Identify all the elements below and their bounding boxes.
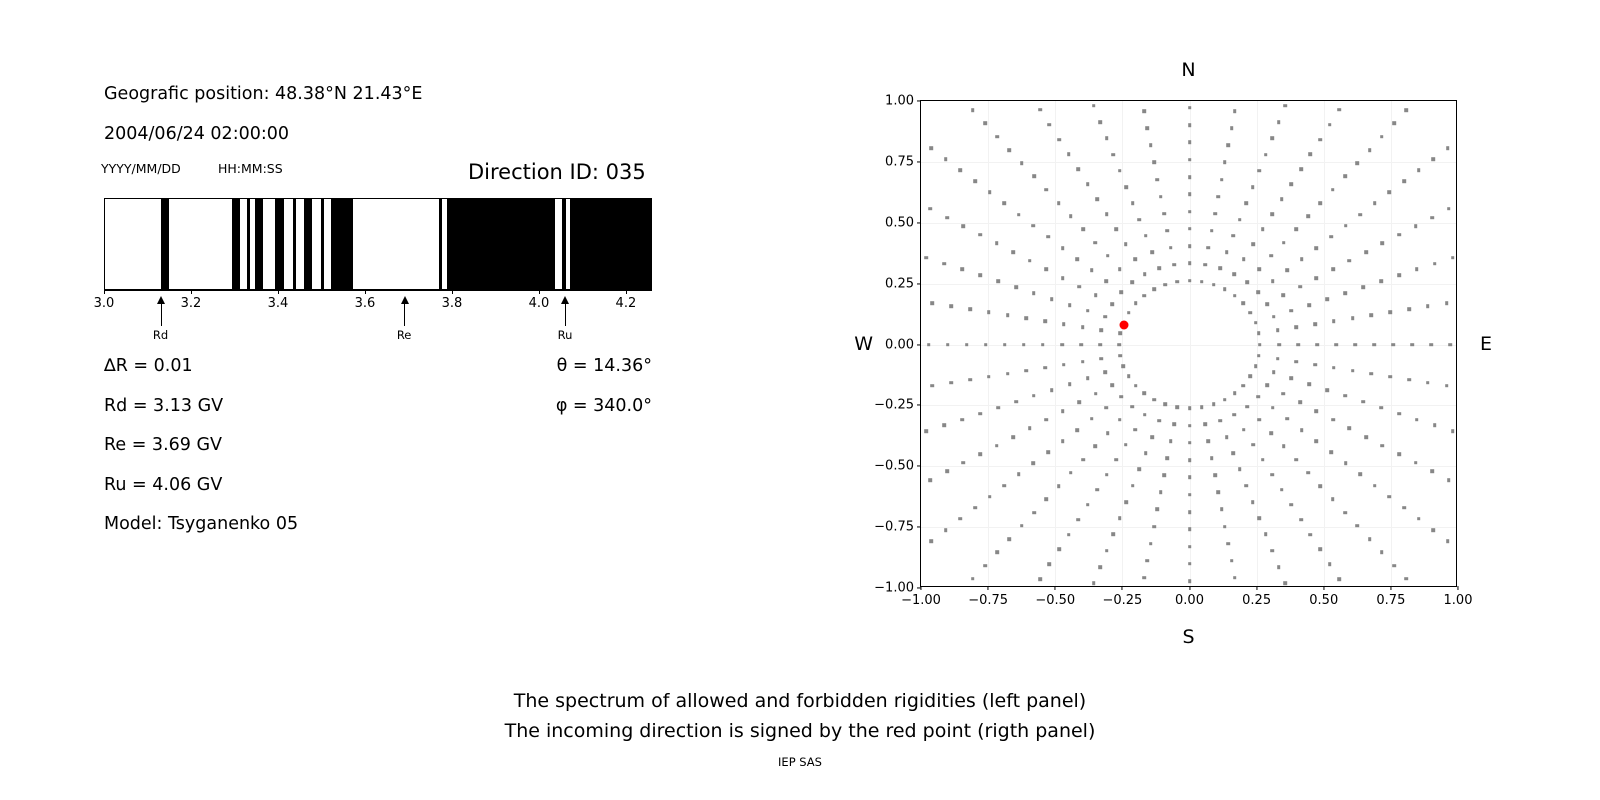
parameter-row-secondary: φ = 340.0° — [556, 396, 652, 416]
direction-point — [1343, 175, 1347, 179]
direction-point — [1238, 218, 1242, 222]
geographic-position-label: Geografic position: 48.38°N 21.43°E — [104, 84, 422, 104]
direction-point — [1105, 406, 1109, 410]
direction-point — [1331, 268, 1335, 272]
direction-point — [1146, 559, 1150, 563]
direction-point — [1355, 524, 1359, 528]
direction-point — [1258, 343, 1262, 347]
direction-point — [1272, 370, 1276, 374]
direction-point — [1110, 383, 1114, 387]
direction-point — [1152, 161, 1156, 165]
direction-point — [1151, 250, 1155, 254]
direction-point — [1358, 213, 1362, 217]
direction-point — [1092, 581, 1096, 585]
direction-point — [1451, 430, 1455, 434]
direction-point — [1381, 444, 1385, 448]
forbidden-band — [255, 199, 263, 289]
direction-point — [1159, 491, 1163, 495]
direction-point — [929, 146, 933, 150]
x-tick-mark — [278, 290, 279, 294]
parameter-row: Ru = 4.06 GV — [104, 475, 222, 495]
direction-point — [1318, 548, 1322, 552]
direction-point — [1076, 168, 1080, 172]
direction-point — [1282, 392, 1286, 396]
direction-point — [1391, 343, 1395, 347]
direction-point — [959, 168, 963, 172]
direction-point — [1094, 392, 1098, 396]
direction-point — [1233, 294, 1237, 298]
direction-point — [1068, 303, 1072, 307]
direction-point — [1397, 233, 1401, 237]
direction-point — [1280, 488, 1284, 492]
direction-point — [1296, 343, 1300, 347]
direction-point — [1142, 294, 1146, 298]
direction-point — [1290, 376, 1294, 380]
direction-point — [1156, 178, 1160, 182]
direction-point — [988, 191, 992, 195]
direction-point — [1100, 357, 1104, 361]
direction-point — [1131, 484, 1135, 488]
direction-point — [1138, 218, 1142, 222]
direction-point — [1294, 228, 1298, 232]
direction-point — [1188, 279, 1192, 283]
direction-point — [1257, 354, 1261, 358]
direction-point — [1373, 484, 1377, 488]
y-tick-mark — [917, 161, 921, 162]
direction-point — [1251, 443, 1255, 447]
y-tick-label: 0.50 — [885, 215, 914, 230]
direction-point — [1122, 365, 1126, 369]
forbidden-band — [321, 199, 324, 289]
direction-point — [1093, 241, 1097, 245]
direction-point — [1188, 175, 1192, 179]
direction-point — [1028, 426, 1032, 430]
caption-line-1: The spectrum of allowed and forbidden ri… — [0, 686, 1600, 716]
direction-point — [1242, 302, 1246, 306]
x-tick-mark — [1256, 586, 1257, 590]
direction-point — [1022, 343, 1026, 347]
y-tick-label: 1.00 — [885, 94, 914, 109]
direction-point — [944, 528, 948, 532]
direction-point — [1373, 202, 1377, 206]
arrow-shaft — [161, 302, 162, 326]
direction-point — [1315, 246, 1319, 250]
direction-point — [1242, 384, 1246, 388]
direction-point — [1077, 401, 1081, 405]
direction-point — [1169, 440, 1173, 444]
direction-point — [929, 207, 933, 211]
direction-point — [1290, 503, 1294, 507]
direction-point — [1076, 518, 1080, 522]
direction-point — [944, 157, 948, 161]
direction-point — [968, 308, 972, 312]
x-tick-mark — [1390, 586, 1391, 590]
compass-west-label: W — [854, 333, 873, 355]
x-tick-label: 0.50 — [1309, 593, 1338, 608]
direction-point — [1245, 405, 1249, 409]
direction-point — [1210, 229, 1214, 233]
y-tick-mark — [917, 344, 921, 345]
direction-point — [978, 412, 982, 416]
caption-line-2: The incoming direction is signed by the … — [0, 716, 1600, 746]
direction-point — [1257, 516, 1261, 520]
direction-point — [1086, 376, 1090, 380]
x-tick-label: 4.2 — [616, 296, 637, 311]
direction-point — [1447, 207, 1451, 211]
x-tick-label: −1.00 — [901, 593, 941, 608]
direction-point — [1226, 542, 1230, 546]
direction-point — [1090, 268, 1094, 272]
direction-point — [1225, 435, 1229, 439]
direction-point — [1319, 484, 1323, 488]
direction-point — [1138, 468, 1142, 472]
direction-point — [1095, 198, 1099, 202]
direction-point — [1144, 234, 1148, 238]
direction-point — [1188, 210, 1192, 214]
direction-point — [1218, 419, 1222, 423]
direction-point — [1002, 484, 1006, 488]
direction-point — [925, 256, 929, 260]
direction-point — [1313, 363, 1317, 367]
direction-point — [1368, 148, 1372, 152]
direction-point — [1061, 409, 1065, 413]
direction-point — [1044, 268, 1048, 272]
direction-point — [973, 506, 977, 510]
direction-point — [1294, 458, 1298, 462]
y-tick-label: 0.00 — [885, 337, 914, 352]
direction-point — [1125, 185, 1129, 189]
direction-point — [1364, 435, 1368, 439]
direction-point — [1300, 428, 1304, 432]
direction-point — [1257, 418, 1261, 422]
direction-point — [1277, 120, 1281, 124]
direction-point — [1430, 216, 1434, 220]
direction-point — [1188, 123, 1192, 127]
direction-point — [1315, 276, 1319, 280]
direction-point — [1257, 267, 1261, 271]
direction-point — [1265, 302, 1269, 306]
direction-point — [1309, 153, 1313, 157]
direction-point — [1119, 395, 1123, 399]
direction-point — [1272, 315, 1276, 319]
direction-point — [983, 122, 987, 126]
direction-point — [1353, 343, 1357, 347]
direction-point — [1061, 246, 1065, 250]
direction-point — [1318, 138, 1322, 142]
direction-point — [931, 302, 935, 306]
direction-point — [1166, 229, 1170, 233]
horizontal-gridline — [921, 223, 1456, 224]
direction-point — [1105, 279, 1109, 283]
direction-point — [1152, 525, 1156, 529]
direction-point — [1271, 213, 1275, 217]
direction-point — [1213, 474, 1217, 478]
direction-point — [1111, 153, 1115, 157]
direction-point — [1315, 343, 1319, 347]
direction-point — [1069, 471, 1073, 475]
direction-point — [1276, 329, 1280, 333]
x-tick-mark — [365, 290, 366, 294]
direction-point — [1118, 332, 1122, 336]
direction-point — [1133, 258, 1137, 262]
direction-point — [1372, 343, 1376, 347]
vertical-gridline — [988, 101, 989, 586]
datetime-label: 2004/06/24 02:00:00 — [104, 124, 289, 144]
direction-point — [1134, 302, 1138, 306]
direction-point — [1213, 212, 1217, 216]
spectrum-x-axis: 3.03.23.43.63.84.04.2 — [104, 290, 652, 302]
direction-point — [1134, 384, 1138, 388]
direction-point — [1251, 243, 1255, 247]
direction-point — [1290, 183, 1294, 187]
direction-point — [1380, 135, 1384, 139]
x-tick-mark — [452, 290, 453, 294]
direction-point — [1325, 388, 1329, 392]
direction-point — [1105, 473, 1109, 477]
direction-point — [1397, 412, 1401, 416]
direction-point — [973, 179, 977, 183]
y-tick-mark — [917, 283, 921, 284]
direction-point — [987, 375, 991, 379]
direction-point — [1404, 108, 1408, 112]
direction-point — [1402, 179, 1406, 183]
parameter-row-secondary: θ = 14.36° — [557, 356, 652, 376]
direction-point — [1142, 110, 1146, 114]
x-tick-label: −0.50 — [1035, 593, 1075, 608]
direction-point — [1159, 195, 1163, 199]
direction-point — [1270, 431, 1274, 435]
direction-point — [1276, 357, 1280, 361]
y-tick-label: −0.25 — [874, 398, 914, 413]
direction-point — [942, 424, 946, 428]
direction-point — [1446, 146, 1450, 150]
direction-point — [1032, 394, 1036, 398]
direction-point — [1433, 424, 1437, 428]
direction-point — [1233, 392, 1237, 396]
direction-point — [1142, 392, 1146, 396]
direction-point — [1344, 224, 1348, 228]
direction-point — [1218, 267, 1222, 271]
direction-point — [1251, 500, 1255, 504]
direction-point — [1431, 528, 1435, 532]
direction-point — [949, 381, 953, 385]
direction-point — [962, 224, 966, 228]
direction-point — [1308, 303, 1312, 307]
direction-point — [946, 343, 950, 347]
direction-point — [978, 233, 982, 237]
direction-point — [1032, 175, 1036, 179]
direction-point — [1368, 537, 1372, 541]
direction-point — [1212, 283, 1216, 287]
direction-point — [1433, 262, 1437, 266]
direction-point — [1299, 168, 1303, 172]
rigidity-spectrum-bar — [104, 198, 652, 290]
direction-point — [945, 470, 949, 474]
direction-point — [1081, 360, 1085, 364]
direction-point — [1149, 144, 1153, 148]
direction-point — [1370, 314, 1374, 318]
direction-point — [1417, 168, 1421, 172]
x-tick-mark — [1457, 586, 1458, 590]
direction-point — [1283, 104, 1287, 108]
direction-point — [1118, 169, 1122, 173]
direction-point — [1251, 185, 1255, 189]
direction-point — [1127, 311, 1131, 315]
direction-point — [995, 550, 999, 554]
direction-point — [1223, 161, 1227, 165]
direction-point — [1415, 268, 1419, 272]
direction-point — [1404, 577, 1408, 581]
direction-point — [1285, 417, 1289, 421]
direction-point — [1157, 267, 1161, 271]
arrow-up-icon — [401, 296, 409, 304]
direction-point — [1151, 435, 1155, 439]
forbidden-band — [304, 199, 312, 289]
direction-point — [1344, 462, 1348, 466]
direction-point — [1254, 321, 1258, 325]
direction-point — [1157, 419, 1161, 423]
direction-point — [1104, 370, 1108, 374]
direction-point — [1092, 104, 1096, 108]
direction-point — [971, 108, 975, 112]
direction-point — [1062, 323, 1066, 327]
direction-point — [1057, 484, 1061, 488]
direction-point — [1188, 545, 1192, 549]
direction-point — [1142, 576, 1146, 580]
direction-point — [1300, 257, 1304, 261]
direction-point — [1203, 263, 1207, 267]
direction-point — [1188, 458, 1192, 462]
direction-point — [1451, 256, 1455, 260]
direction-point — [1334, 343, 1338, 347]
direction-point — [1006, 372, 1010, 376]
direction-point — [1014, 285, 1018, 289]
direction-point — [1048, 123, 1052, 127]
x-tick-label: 3.6 — [355, 296, 376, 311]
compass-east-label: E — [1480, 333, 1492, 355]
arrow-shaft — [565, 302, 566, 326]
direction-point — [1388, 191, 1392, 195]
direction-point — [1093, 445, 1097, 449]
direction-point — [1270, 549, 1274, 553]
direction-point — [1090, 417, 1094, 421]
direction-point — [1044, 418, 1048, 422]
x-tick-mark — [104, 290, 105, 294]
direction-point — [1295, 326, 1299, 330]
direction-point — [1172, 263, 1176, 267]
direction-point — [1392, 564, 1396, 568]
direction-point — [987, 311, 991, 315]
direction-point — [1046, 235, 1050, 239]
direction-point — [1100, 329, 1104, 333]
direction-point — [1105, 213, 1109, 217]
direction-point — [1355, 161, 1359, 165]
direction-point — [1153, 398, 1157, 402]
direction-point — [1188, 476, 1192, 480]
x-tick-label: 3.2 — [181, 296, 202, 311]
direction-point — [1050, 388, 1054, 392]
direction-point — [1124, 243, 1128, 247]
direction-point — [1220, 178, 1224, 182]
y-tick-mark — [917, 466, 921, 467]
direction-point — [1407, 308, 1411, 312]
direction-point — [1306, 214, 1310, 218]
direction-point — [927, 343, 931, 347]
vertical-gridline — [1055, 101, 1056, 586]
direction-point — [959, 517, 963, 521]
direction-point — [968, 378, 972, 382]
direction-point — [1188, 244, 1192, 248]
compass-south-label: S — [1182, 626, 1194, 648]
direction-point — [1188, 106, 1192, 110]
direction-point — [1188, 141, 1192, 145]
direction-point — [1379, 406, 1383, 410]
direction-point — [1060, 343, 1064, 347]
y-tick-mark — [917, 527, 921, 528]
direction-point — [995, 242, 999, 246]
direction-point — [1430, 470, 1434, 474]
direction-point — [1188, 562, 1192, 566]
y-tick-mark — [917, 405, 921, 406]
direction-point — [1414, 461, 1418, 465]
direction-point — [1068, 382, 1072, 386]
footer-credit: IEP SAS — [0, 755, 1600, 769]
direction-point — [1164, 403, 1168, 407]
direction-point — [1277, 343, 1281, 347]
direction-point — [1130, 405, 1134, 409]
direction-point — [1105, 137, 1109, 141]
forbidden-band — [232, 199, 240, 289]
direction-point — [1067, 153, 1071, 157]
compass-north-label: N — [1181, 59, 1195, 81]
direction-point — [1445, 384, 1449, 388]
direction-point — [1046, 450, 1050, 454]
direction-point — [1149, 542, 1153, 546]
direction-point — [1067, 533, 1071, 537]
direction-point — [1038, 108, 1042, 112]
direction-point — [1264, 153, 1268, 157]
direction-point — [1298, 401, 1302, 405]
direction-point — [1230, 127, 1234, 131]
direction-point — [1188, 158, 1192, 162]
direction-point — [1144, 451, 1148, 455]
direction-point — [1216, 491, 1220, 495]
direction-point — [1011, 435, 1015, 439]
direction-point — [1348, 426, 1352, 430]
x-tick-mark — [1323, 586, 1324, 590]
parameter-row: Re = 3.69 GV — [104, 435, 222, 455]
forbidden-band — [570, 199, 652, 289]
direction-point — [1118, 418, 1122, 422]
direction-point — [1086, 503, 1090, 507]
direction-point — [1188, 493, 1192, 497]
direction-point — [1430, 343, 1434, 347]
direction-point — [1118, 267, 1122, 271]
direction-point — [1164, 283, 1168, 287]
direction-point — [1069, 214, 1073, 218]
direction-point — [1270, 254, 1274, 258]
direction-point — [1223, 525, 1227, 529]
parameter-row: Rd = 3.13 GV — [104, 396, 223, 416]
direction-point — [978, 274, 982, 278]
direction-point — [1249, 311, 1253, 315]
direction-point — [1043, 320, 1047, 324]
direction-point — [1223, 398, 1227, 402]
direction-point — [1062, 363, 1066, 367]
direction-point — [931, 384, 935, 388]
direction-point — [1188, 192, 1192, 196]
x-tick-label: 0.00 — [1175, 593, 1204, 608]
